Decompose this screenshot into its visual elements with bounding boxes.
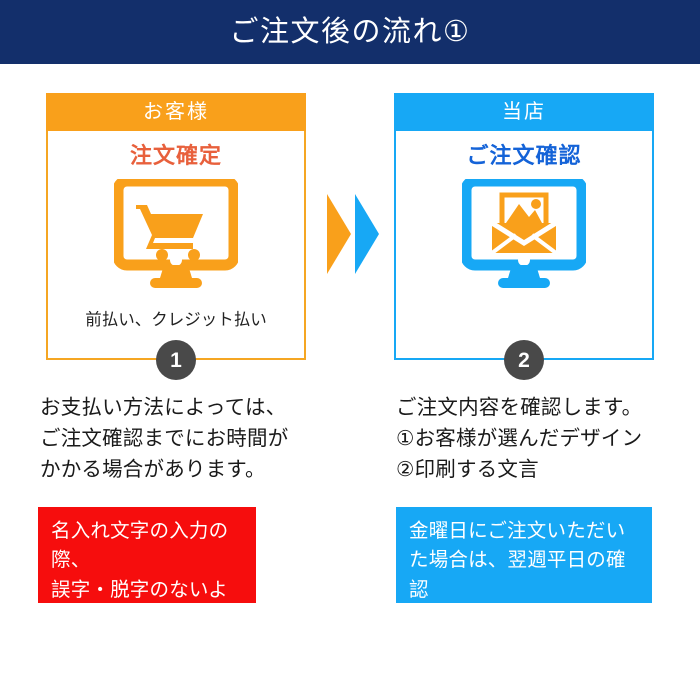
step-card-2: 当店 ご注文確認 <box>394 93 654 360</box>
double-chevron-right-icon <box>325 192 381 276</box>
step-1-badge: 1 <box>156 340 196 380</box>
step-2-badge-number: 2 <box>518 350 530 371</box>
header-banner: ご注文後の流れ① <box>0 0 700 64</box>
monitor-envelope-photo-icon <box>462 179 586 296</box>
step-1-badge-number: 1 <box>170 350 182 371</box>
step-1-note: 前払い、クレジット払い <box>48 306 304 330</box>
step-2-header-label: 当店 <box>502 102 546 122</box>
step-1-header: お客様 <box>46 93 306 131</box>
step-1-icon-wrap <box>48 179 304 296</box>
page-title: ご注文後の流れ① <box>230 18 471 47</box>
step-2-badge: 2 <box>504 340 544 380</box>
step-card-1: お客様 注文確定 <box>46 93 306 360</box>
step-2-header: 当店 <box>394 93 654 131</box>
step-1-header-label: お客様 <box>143 102 209 122</box>
step-2-icon-wrap <box>396 179 652 296</box>
flow-infographic: ご注文後の流れ① お客様 注文確定 <box>0 0 700 700</box>
step-2-callout: 金曜日にご注文いただい た場合は、翌週平日の確認 になります。 <box>396 507 652 603</box>
monitor-shopping-cart-icon <box>114 179 238 296</box>
step-2-description: ご注文内容を確認します。 ①お客様が選んだデザイン ②印刷する文言 <box>396 392 642 485</box>
step-1-subtitle: 注文確定 <box>48 145 304 167</box>
step-2-subtitle: ご注文確認 <box>396 145 652 167</box>
step-1-callout: 名入れ文字の入力の際、 誤字・脱字のないように お気をつけください。 <box>38 507 256 603</box>
step-1-description: お支払い方法によっては、 ご注文確認までにお時間が かかる場合があります。 <box>40 392 288 485</box>
